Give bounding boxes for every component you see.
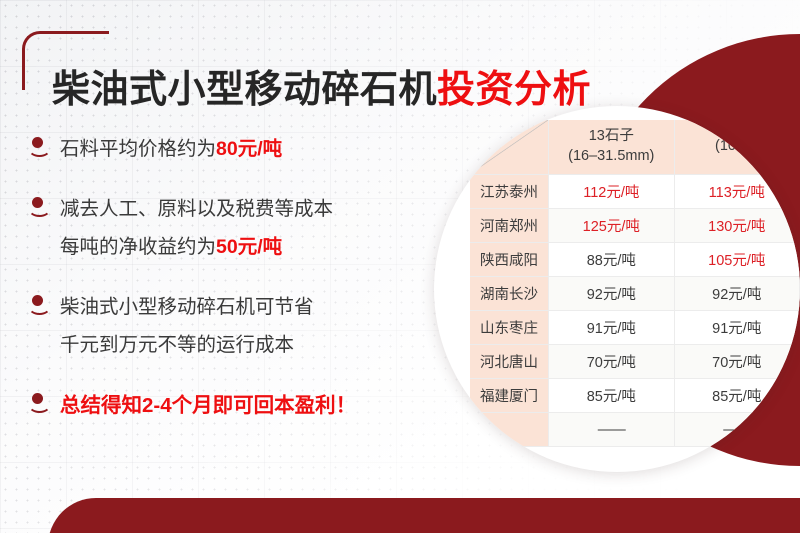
column-header-1: 13石子 (16–31.5mm) [549, 120, 674, 175]
table-cell-city: 山东枣庄 [470, 311, 549, 345]
bullet-list: 石料平均价格约为80元/吨减去人工、原料以及税费等成本每吨的净收益约为50元/吨… [28, 130, 428, 448]
table-cell-price: 85元/吨 [549, 379, 674, 413]
table-cell-price: 70元/吨 [674, 345, 799, 379]
table-cell-price: 85元/吨 [674, 379, 799, 413]
bullet-line: 柴油式小型移动碎石机可节省 [60, 288, 314, 326]
table-row: 江苏泰州112元/吨113元/吨 [470, 175, 800, 209]
bullet-dot-icon [28, 292, 50, 318]
table-cell-price: 91元/吨 [549, 311, 674, 345]
table-cell-city: 福建厦门 [470, 379, 549, 413]
table-cell-price: 130元/吨 [674, 209, 799, 243]
bullet-item: 总结得知2-4个月即可回本盈利！ [28, 386, 428, 426]
price-table-circle-card: 13石子 (16–31.5mm) (10–… 江苏泰州112元/吨113元/吨河… [434, 106, 800, 472]
table-cell-price: 88元/吨 [549, 243, 674, 277]
bullet-line: 每吨的净收益约为50元/吨 [60, 228, 333, 266]
column-header-1-line1: 13石子 [549, 127, 673, 147]
page-title-main: 柴油式小型移动碎石机 [52, 69, 437, 111]
table-cell-city: 陕西咸阳 [470, 243, 549, 277]
column-header-2: (10–… [674, 120, 799, 175]
table-cell-price: —— [674, 413, 799, 447]
table-cell-price: 70元/吨 [549, 345, 674, 379]
table-row: 陕西咸阳88元/吨105元/吨 [470, 243, 800, 277]
bullet-arc-icon [28, 200, 51, 217]
table-body: 江苏泰州112元/吨113元/吨河南郑州125元/吨130元/吨陕西咸阳88元/… [470, 175, 800, 447]
bullet-segment: 减去人工、原料以及税费等成本 [60, 198, 333, 220]
column-header-1-line2: (16–31.5mm) [549, 147, 673, 167]
table-cell-city [470, 413, 549, 447]
table-head: 13石子 (16–31.5mm) (10–… [470, 120, 800, 175]
table-header-row: 13石子 (16–31.5mm) (10–… [470, 120, 800, 175]
poster-canvas: 柴油式小型移动碎石机投资分析 石料平均价格约为80元/吨减去人工、原料以及税费等… [0, 0, 800, 533]
bullet-line: 总结得知2-4个月即可回本盈利！ [60, 386, 356, 426]
table-cell-price: 125元/吨 [549, 209, 674, 243]
table-row: ———— [470, 413, 800, 447]
table-cell-city: 河南郑州 [470, 209, 549, 243]
bullet-text: 石料平均价格约为80元/吨 [60, 130, 282, 168]
bullet-line: 减去人工、原料以及税费等成本 [60, 190, 333, 228]
bullet-highlight: 80元/吨 [216, 138, 282, 160]
bullet-dot-icon [28, 194, 50, 220]
table-row: 河北唐山70元/吨70元/吨 [470, 345, 800, 379]
bullet-line: 千元到万元不等的运行成本 [60, 326, 314, 364]
page-title-accent: 投资分析 [437, 69, 591, 111]
table-row: 山东枣庄91元/吨91元/吨 [470, 311, 800, 345]
bullet-segment: 石料平均价格约为 [60, 138, 216, 160]
column-header-2-line2: (10–… [675, 137, 799, 157]
bullet-item: 柴油式小型移动碎石机可节省千元到万元不等的运行成本 [28, 288, 428, 364]
bullet-arc-icon [28, 298, 51, 315]
table-cell-price: 92元/吨 [674, 277, 799, 311]
bullet-arc-icon [28, 140, 51, 157]
page-title: 柴油式小型移动碎石机投资分析 [52, 69, 591, 113]
decorative-bottom-band [48, 498, 800, 533]
bullet-text: 减去人工、原料以及税费等成本每吨的净收益约为50元/吨 [60, 190, 333, 266]
bullet-dot-icon [28, 390, 50, 416]
bullet-segment: 千元到万元不等的运行成本 [60, 334, 294, 356]
bullet-line: 石料平均价格约为80元/吨 [60, 130, 282, 168]
bullet-segment: 每吨的净收益约为 [60, 236, 216, 258]
bullet-arc-icon [28, 396, 51, 413]
table-row: 湖南长沙92元/吨92元/吨 [470, 277, 800, 311]
stone-price-table: 13石子 (16–31.5mm) (10–… 江苏泰州112元/吨113元/吨河… [470, 120, 800, 447]
table-cell-price: 91元/吨 [674, 311, 799, 345]
bullet-segment: 柴油式小型移动碎石机可节省 [60, 296, 314, 318]
bullet-text: 柴油式小型移动碎石机可节省千元到万元不等的运行成本 [60, 288, 314, 364]
table-cell-city: 江苏泰州 [470, 175, 549, 209]
table-cell-price: 92元/吨 [549, 277, 674, 311]
table-cell-price: 112元/吨 [549, 175, 674, 209]
bullet-segment: 总结得知2-4个月即可回本盈利！ [60, 394, 356, 417]
bullet-dot-icon [28, 134, 50, 160]
table-row: 河南郑州125元/吨130元/吨 [470, 209, 800, 243]
bullet-highlight: 50元/吨 [216, 236, 282, 258]
table-cell-price: —— [549, 413, 674, 447]
table-row: 福建厦门85元/吨85元/吨 [470, 379, 800, 413]
table-corner-cell [470, 120, 549, 175]
bullet-text: 总结得知2-4个月即可回本盈利！ [60, 386, 356, 426]
bullet-item: 减去人工、原料以及税费等成本每吨的净收益约为50元/吨 [28, 190, 428, 266]
table-cell-city: 湖南长沙 [470, 277, 549, 311]
table-cell-price: 113元/吨 [674, 175, 799, 209]
table-cell-price: 105元/吨 [674, 243, 799, 277]
bullet-item: 石料平均价格约为80元/吨 [28, 130, 428, 168]
table-cell-city: 河北唐山 [470, 345, 549, 379]
